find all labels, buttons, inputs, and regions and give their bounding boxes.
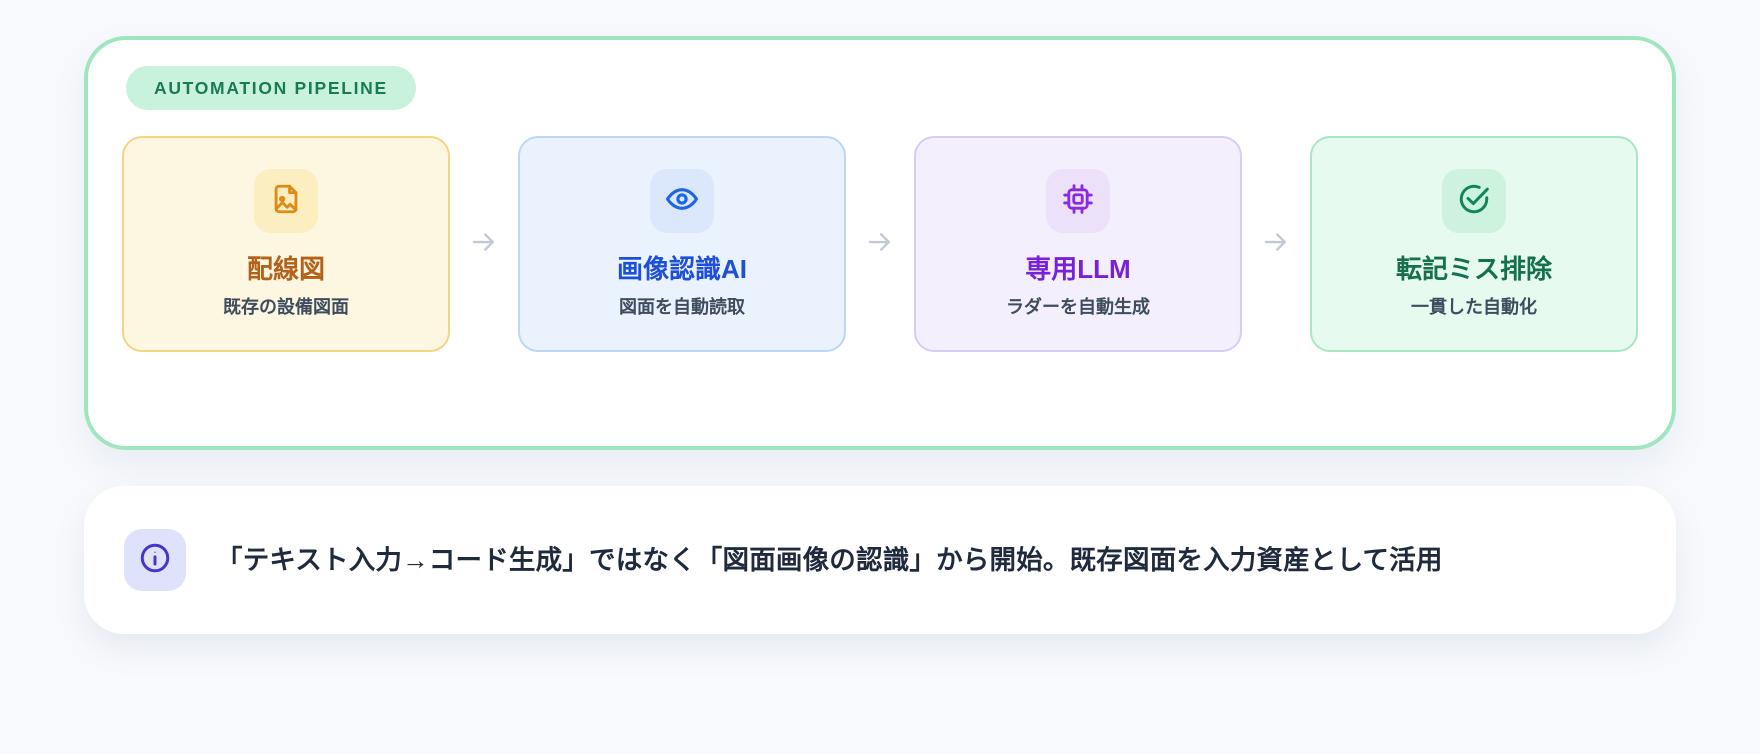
pipeline-step-dedicated-llm[interactable]: 専用LLM ラダーを自動生成 <box>914 136 1242 352</box>
connector-2 <box>846 136 914 352</box>
check-circle-icon <box>1457 182 1491 221</box>
step-subtitle: 一貫した自動化 <box>1411 297 1537 319</box>
note-card: 「テキスト入力→コード生成」ではなく「図面画像の認識」から開始。既存図面を入力資… <box>84 486 1676 634</box>
step-title: 転記ミス排除 <box>1396 255 1552 285</box>
cpu-chip-icon <box>1061 182 1095 221</box>
step-title: 配線図 <box>247 255 325 285</box>
step-subtitle: ラダーを自動生成 <box>1006 297 1150 319</box>
pipeline-steps: 配線図 既存の設備図面 <box>122 136 1638 352</box>
check-circle-icon-tile <box>1442 169 1506 233</box>
eye-icon-tile <box>650 169 714 233</box>
info-icon-tile <box>124 529 186 591</box>
eye-icon <box>665 182 699 221</box>
file-image-icon <box>269 182 303 221</box>
pipeline-badge: AUTOMATION PIPELINE <box>126 66 416 110</box>
pipeline-page: AUTOMATION PIPELINE 配線図 既存の設備図面 <box>0 0 1760 754</box>
step-title: 専用LLM <box>1025 255 1130 285</box>
arrow-right-icon <box>1261 227 1291 262</box>
automation-pipeline-card: AUTOMATION PIPELINE 配線図 既存の設備図面 <box>84 36 1676 450</box>
step-title: 画像認識AI <box>617 255 747 285</box>
file-image-icon-tile <box>254 169 318 233</box>
arrow-right-icon <box>469 227 499 262</box>
note-text: 「テキスト入力→コード生成」ではなく「図面画像の認識」から開始。既存図面を入力資… <box>216 543 1443 577</box>
cpu-chip-icon-tile <box>1046 169 1110 233</box>
connector-3 <box>1242 136 1310 352</box>
arrow-right-icon <box>865 227 895 262</box>
pipeline-step-wiring-diagram[interactable]: 配線図 既存の設備図面 <box>122 136 450 352</box>
connector-1 <box>450 136 518 352</box>
pipeline-step-image-recognition-ai[interactable]: 画像認識AI 図面を自動読取 <box>518 136 846 352</box>
pipeline-step-error-elimination[interactable]: 転記ミス排除 一貫した自動化 <box>1310 136 1638 352</box>
info-icon <box>138 541 172 580</box>
step-subtitle: 図面を自動読取 <box>619 297 745 319</box>
step-subtitle: 既存の設備図面 <box>223 297 349 319</box>
